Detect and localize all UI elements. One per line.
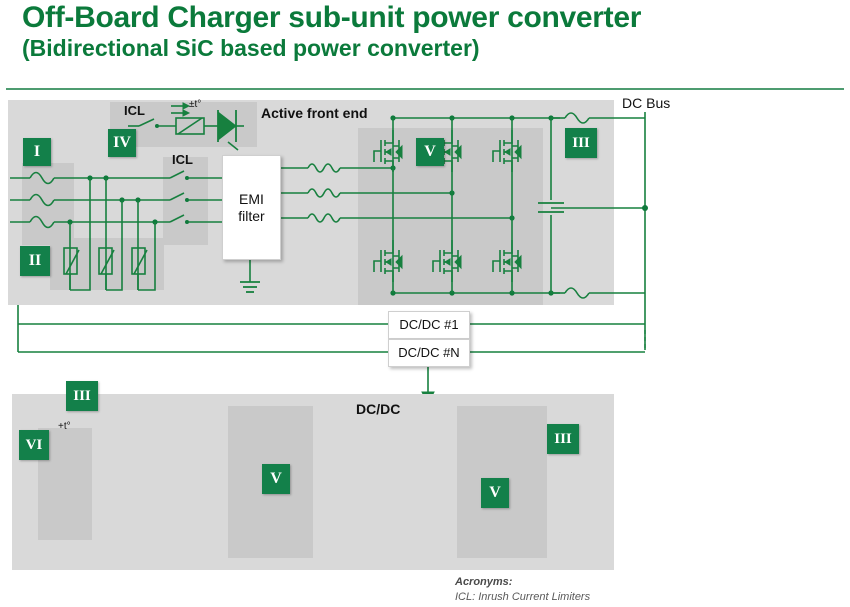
dcdc-last-label: DC/DC #N [398, 346, 459, 361]
badge-top-IV: IV [108, 129, 136, 157]
dcdc-last-label-box: DC/DC #N [388, 339, 470, 367]
badge-top-II: II [20, 246, 50, 276]
badge-top-I: I [23, 138, 51, 166]
badge-top-V: V [416, 138, 444, 166]
dc-bus-label: DC Bus [622, 95, 670, 111]
badge-bottom-V-primary: V [262, 464, 290, 494]
active-front-end-label: Active front end [261, 105, 368, 121]
thermistor-marking-bottom: +t° [58, 421, 71, 432]
dcdc-first-label: DC/DC #1 [399, 318, 458, 333]
badge-bottom-III-output: III [547, 424, 579, 454]
acronyms-heading: Acronyms: [455, 576, 512, 588]
dcdc-section-label: DC/DC [356, 401, 400, 417]
dcdc-first-label-box: DC/DC #1 [388, 311, 470, 339]
acronyms-item-icl: ICL: Inrush Current Limiters [455, 591, 590, 603]
badge-bottom-III-input: III [66, 381, 98, 411]
badge-top-III: III [565, 128, 597, 158]
badge-bottom-VI: VI [19, 430, 49, 460]
emi-filter-label-1: EMI [239, 191, 264, 207]
badge-bottom-V-secondary: V [481, 478, 509, 508]
icl-label-top: ICL [124, 103, 145, 118]
emi-filter-box: EMI filter [222, 155, 281, 260]
emi-filter-label-2: filter [238, 208, 264, 224]
thermistor-marking-top: ±t° [189, 99, 201, 110]
diagram-root: Off-Board Charger sub-unit power convert… [0, 0, 850, 607]
icl-label-mid: ICL [172, 152, 193, 167]
